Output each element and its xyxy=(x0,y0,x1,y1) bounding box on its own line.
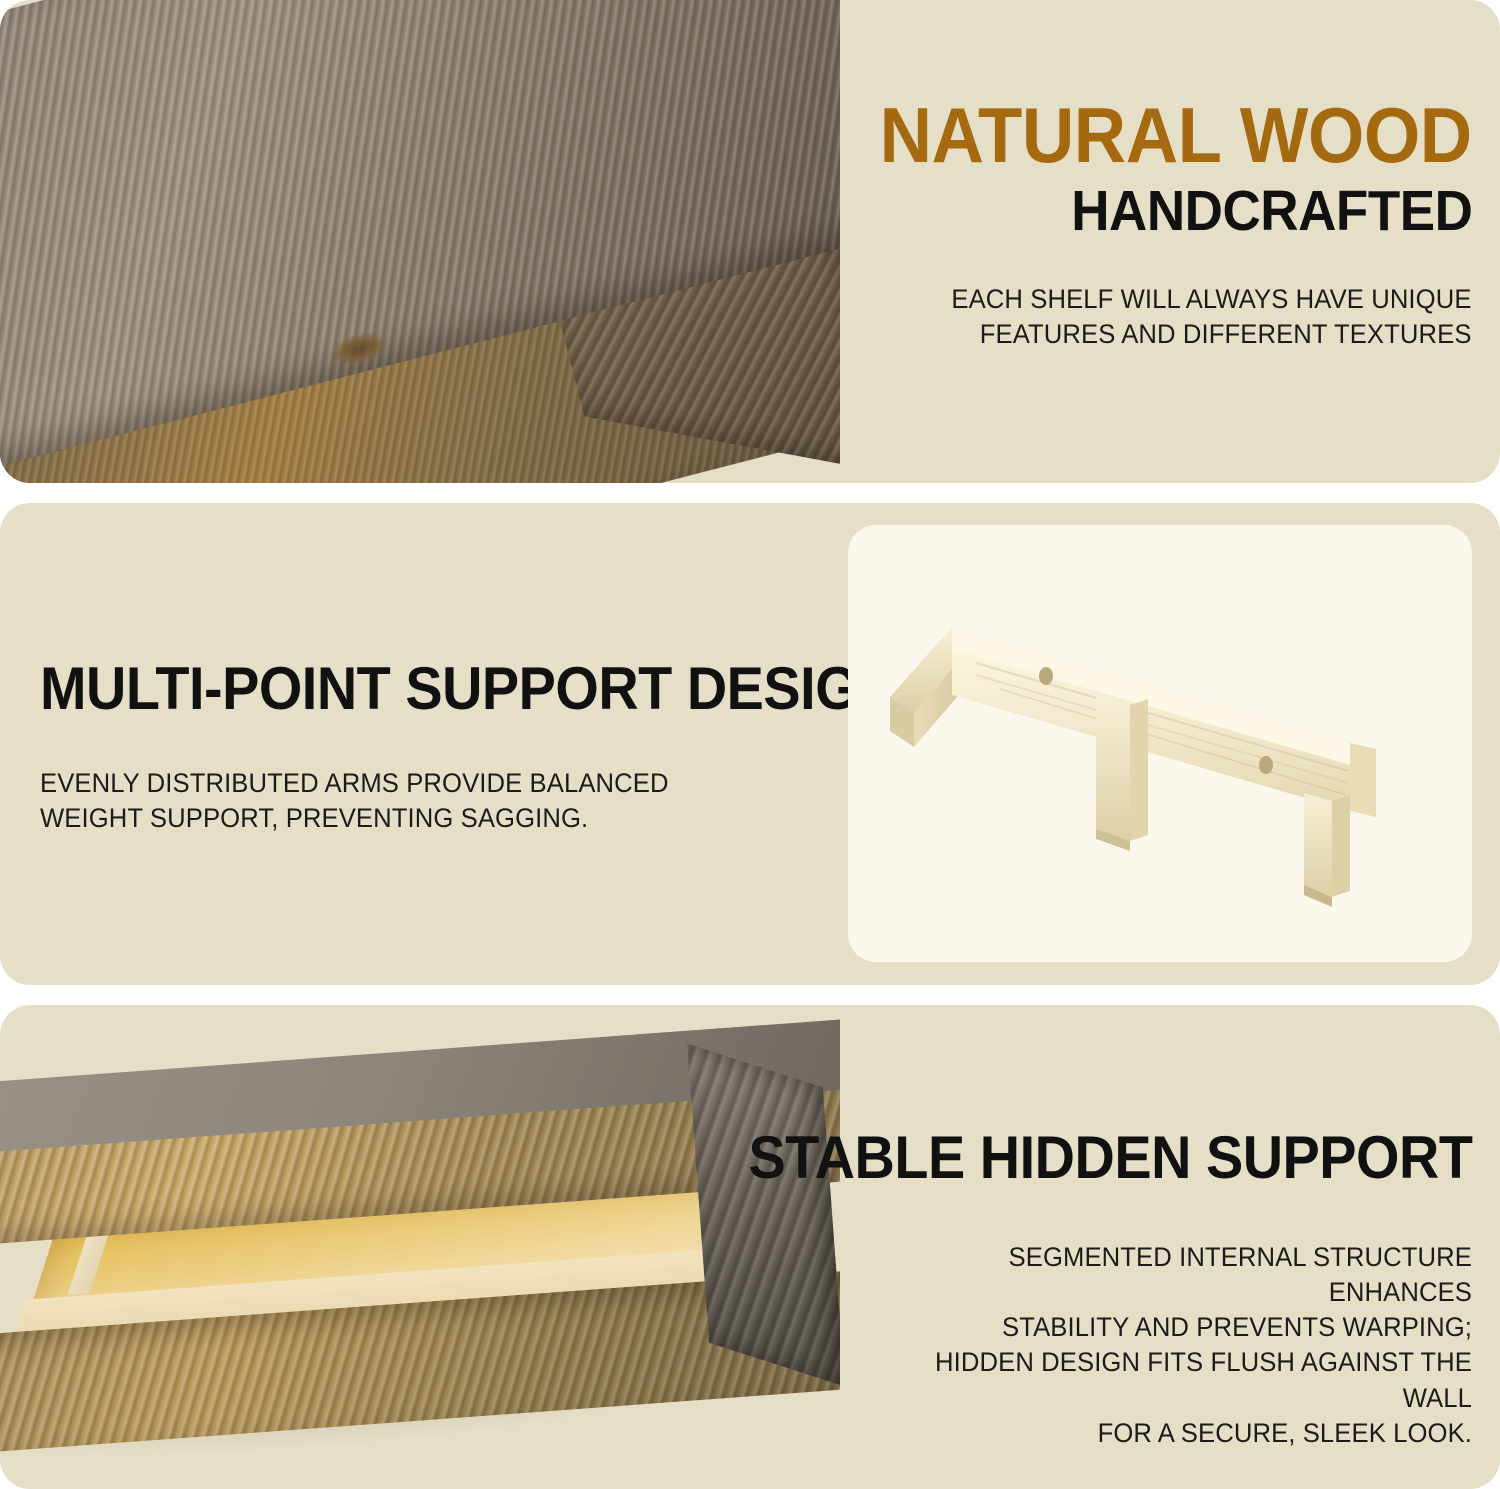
hollow-shelf-illustration xyxy=(0,1005,840,1489)
panel-stable-hidden-support: STABLE HIDDEN SUPPORT SEGMENTED INTERNAL… xyxy=(0,1005,1500,1489)
panel-1-headline-main: HANDCRAFTED xyxy=(1071,182,1472,240)
wall-bracket-icon xyxy=(880,579,1440,909)
panel-3-subcopy: SEGMENTED INTERNAL STRUCTURE ENHANCES ST… xyxy=(874,1240,1473,1451)
bracket-arm-middle xyxy=(1096,695,1148,851)
panel-1-headline-accent: NATURAL WOOD xyxy=(880,96,1472,176)
bracket-screw-hole-2 xyxy=(1259,756,1273,774)
panel-multi-point-support: MULTI-POINT SUPPORT DESIGN EVENLY DISTRI… xyxy=(0,503,1500,985)
panel-3-headline: STABLE HIDDEN SUPPORT xyxy=(748,1127,1472,1188)
panel-1-subcopy: EACH SHELF WILL ALWAYS HAVE UNIQUE FEATU… xyxy=(952,282,1472,352)
bracket-screw-hole-1 xyxy=(1039,667,1053,685)
hollow-shelf-photo xyxy=(0,1005,840,1489)
stable-hidden-support-copy: STABLE HIDDEN SUPPORT SEGMENTED INTERNAL… xyxy=(842,1127,1472,1451)
multi-point-support-copy: MULTI-POINT SUPPORT DESIGN EVENLY DISTRI… xyxy=(40,658,820,836)
panel-2-headline: MULTI-POINT SUPPORT DESIGN xyxy=(40,658,898,719)
panel-natural-wood: NATURAL WOOD HANDCRAFTED EACH SHELF WILL… xyxy=(0,0,1500,483)
bracket-rail-endcap xyxy=(1350,743,1376,817)
bracket-arm-right xyxy=(1304,793,1350,907)
infographic-root: NATURAL WOOD HANDCRAFTED EACH SHELF WILL… xyxy=(0,0,1500,1489)
panel-2-subcopy: EVENLY DISTRIBUTED ARMS PROVIDE BALANCED… xyxy=(40,766,669,836)
shelf-block-photo xyxy=(0,0,840,483)
bracket-product-card xyxy=(848,525,1472,962)
natural-wood-copy: NATURAL WOOD HANDCRAFTED EACH SHELF WILL… xyxy=(842,96,1472,352)
shelf-end-cap xyxy=(687,1044,840,1387)
